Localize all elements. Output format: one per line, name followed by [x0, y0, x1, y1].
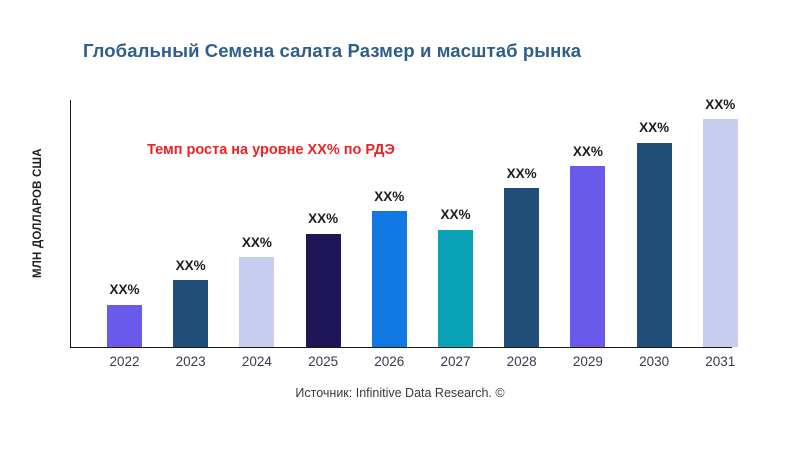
bar-value-label-2027: XX%: [416, 207, 496, 222]
growth-rate-annotation: Темп роста на уровне XX% по РДЭ: [147, 142, 395, 158]
bar-value-label-2022: XX%: [85, 282, 165, 297]
bar-value-label-2026: XX%: [349, 189, 429, 204]
bar-2025[interactable]: [306, 234, 341, 347]
bar-value-label-2031: XX%: [680, 97, 760, 112]
x-tick-label-2031: 2031: [680, 354, 760, 369]
source-note: Источник: Infinitive Data Research. ©: [0, 386, 800, 400]
bar-value-label-2030: XX%: [614, 120, 694, 135]
bar-2031[interactable]: [703, 119, 738, 347]
bar-2027[interactable]: [438, 230, 473, 347]
bar-value-label-2029: XX%: [548, 144, 628, 159]
plot-area: XX%2022XX%2023XX%2024XX%2025XX%2026XX%20…: [0, 0, 800, 450]
bar-value-label-2024: XX%: [217, 235, 297, 250]
bar-2030[interactable]: [637, 143, 672, 347]
bar-2028[interactable]: [504, 188, 539, 347]
bar-2023[interactable]: [173, 280, 208, 347]
bar-value-label-2028: XX%: [482, 166, 562, 181]
bar-value-label-2025: XX%: [283, 211, 363, 226]
bar-2024[interactable]: [239, 257, 274, 347]
bar-value-label-2023: XX%: [151, 258, 231, 273]
bar-2022[interactable]: [107, 305, 142, 347]
bar-2029[interactable]: [570, 166, 605, 347]
bar-2026[interactable]: [372, 211, 407, 347]
chart-container: Глобальный Семена салата Размер и масшта…: [0, 0, 800, 450]
